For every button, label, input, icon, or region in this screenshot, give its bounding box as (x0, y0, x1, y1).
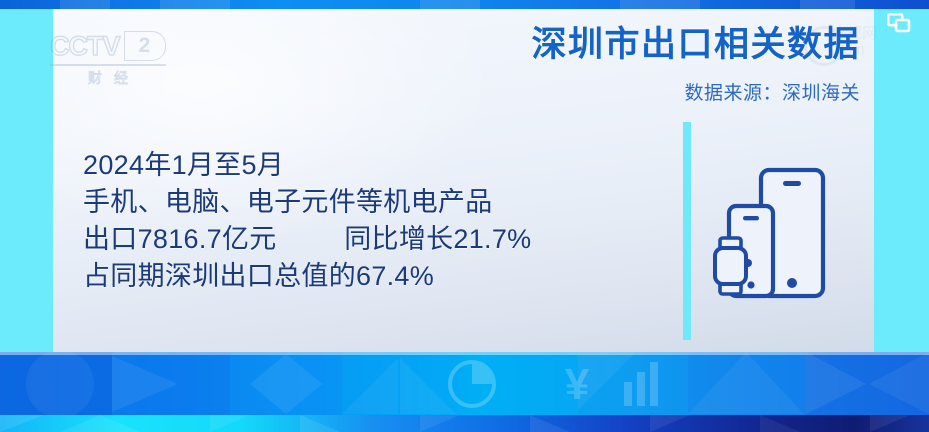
smartphone-speaker (743, 216, 759, 220)
tablet-home-button (787, 278, 797, 288)
broadcast-graphic-screen: CCTV 2 财经 央视网 .com 深圳市出口相关数据 数据来源：深圳海关 2… (0, 0, 929, 432)
bottom-decorative-band: ¥ (0, 352, 929, 415)
stat-growth-rate: 同比增长21.7% (344, 224, 531, 254)
smartwatch-face (715, 248, 746, 284)
statistics-body: 2024年1月至5月 手机、电脑、电子元件等机电产品 出口7816.7亿元 同比… (83, 147, 531, 295)
stat-line-products: 手机、电脑、电子元件等机电产品 (83, 184, 531, 221)
electronic-devices-icon (713, 166, 828, 306)
smartwatch-crown (744, 259, 752, 267)
cctv-channel-subtitle: 财经 (50, 68, 166, 88)
cctv-channel-logo: CCTV 2 财经 (50, 30, 166, 88)
window-restore-icon[interactable] (887, 13, 911, 33)
title-block: 深圳市出口相关数据 数据来源：深圳海关 (531, 26, 860, 105)
band-separator (0, 352, 929, 355)
tablet-speaker (783, 181, 801, 186)
page-title: 深圳市出口相关数据 (531, 26, 860, 65)
stat-line-period: 2024年1月至5月 (83, 147, 531, 184)
smartphone-home-button (747, 281, 754, 288)
stat-line-share: 占同期深圳出口总值的67.4% (83, 258, 531, 295)
bottom-thin-strip (0, 415, 929, 432)
right-cyan-stripe (874, 9, 929, 352)
vertical-cyan-divider (683, 122, 691, 340)
data-source-label: 数据来源：深圳海关 (531, 78, 860, 105)
cctv-logo-underline (50, 64, 166, 66)
left-cyan-stripe (0, 9, 53, 352)
stat-export-value: 出口7816.7亿元 (83, 224, 277, 254)
svg-text:¥: ¥ (565, 360, 590, 409)
cctv-logo-row: CCTV 2 (50, 30, 166, 62)
top-accent-bar (0, 0, 929, 9)
yen-symbol-icon: ¥ (565, 360, 590, 409)
stat-line-exports: 出口7816.7亿元 同比增长21.7% (83, 221, 531, 258)
cctv-wordmark: CCTV (50, 33, 120, 60)
cctv-channel-number: 2 (124, 31, 166, 61)
